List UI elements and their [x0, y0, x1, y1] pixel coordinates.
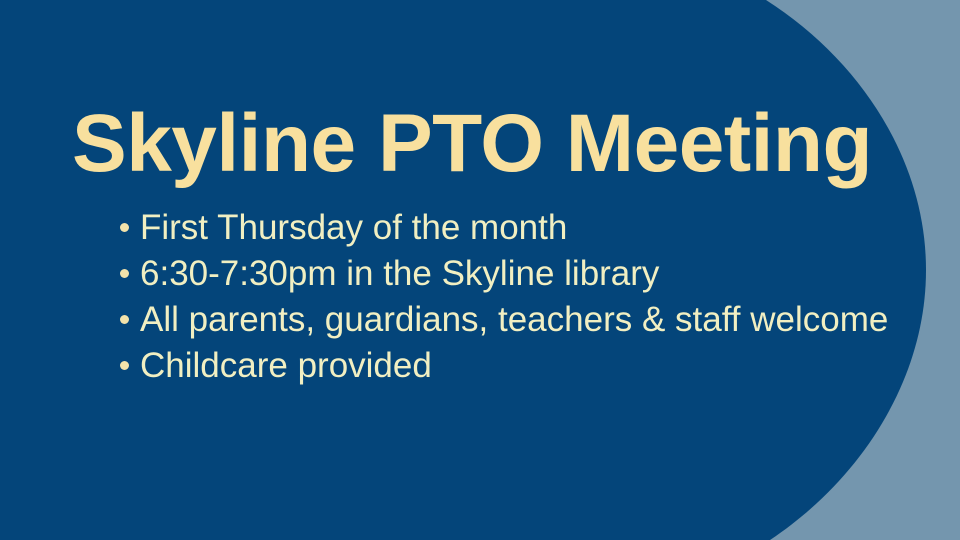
list-item: First Thursday of the month [120, 205, 888, 251]
slide-content: Skyline PTO Meeting First Thursday of th… [0, 0, 960, 540]
list-item-label: Childcare provided [140, 343, 432, 389]
list-item-label: All parents, guardians, teachers & staff… [140, 297, 888, 343]
bullet-dot-icon [120, 315, 129, 324]
list-item: 6:30-7:30pm in the Skyline library [120, 251, 888, 297]
list-item: All parents, guardians, teachers & staff… [120, 297, 888, 343]
bullet-dot-icon [120, 223, 129, 232]
list-item-label: 6:30-7:30pm in the Skyline library [140, 251, 659, 297]
page-title: Skyline PTO Meeting [72, 103, 872, 185]
bullet-dot-icon [120, 361, 129, 370]
presentation-slide: Skyline PTO Meeting First Thursday of th… [0, 0, 960, 540]
bullet-dot-icon [120, 269, 129, 278]
list-item-label: First Thursday of the month [140, 205, 567, 251]
bullet-list: First Thursday of the month 6:30-7:30pm … [120, 205, 888, 389]
list-item: Childcare provided [120, 343, 888, 389]
